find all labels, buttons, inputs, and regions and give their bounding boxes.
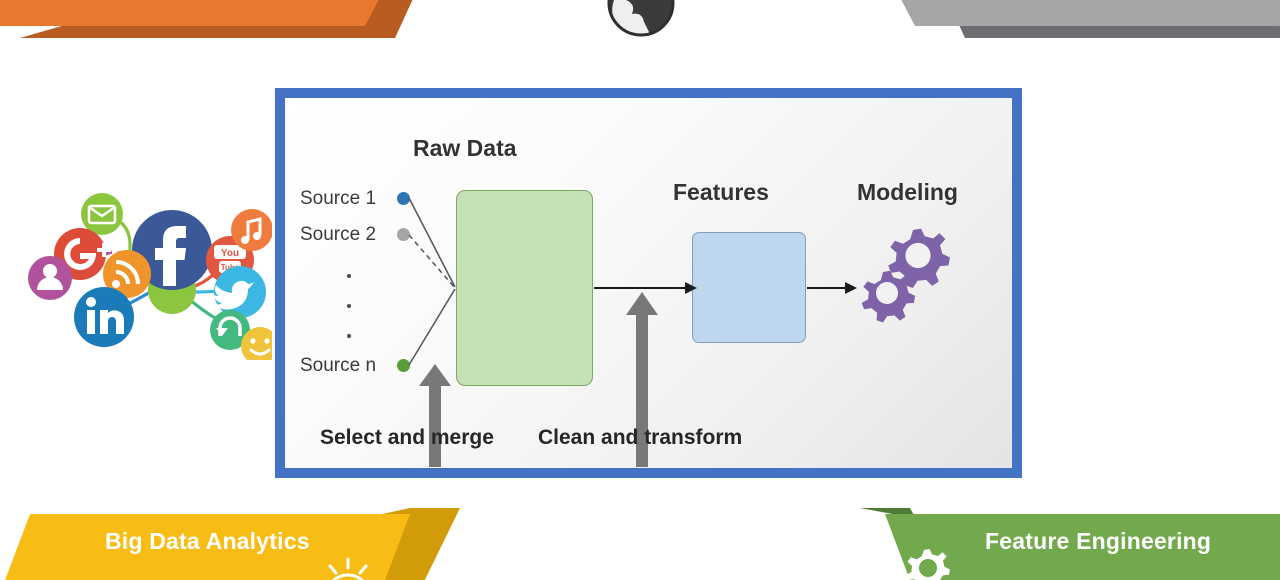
banner-tr-shape [800, 0, 1280, 60]
banner-tl-shape [0, 0, 480, 60]
source-label-n: Source n [300, 355, 376, 377]
vertical-ellipsis-dot [347, 334, 351, 338]
raw-data-title: Raw Data [413, 135, 517, 162]
social-media-graph: You Tube [22, 182, 272, 360]
music-icon [231, 209, 272, 251]
globe-icon [604, 0, 678, 40]
svg-text:You: You [221, 248, 239, 259]
gears-icon [888, 540, 986, 580]
banner-feature-engineering[interactable]: Feature Engineering [800, 500, 1280, 580]
banner-br-label: Feature Engineering [985, 528, 1211, 555]
features-box [692, 232, 806, 343]
banner-sentiment-analysis[interactable]: Sentiment Analysis [0, 0, 480, 60]
pipeline-panel-inner: Raw Data Features Modeling Source 1 Sour… [285, 98, 1012, 468]
sun-icon [318, 555, 378, 580]
source-dot-1 [397, 192, 410, 205]
vertical-ellipsis-dot [347, 274, 351, 278]
caption-select-and-merge: Select and merge [320, 426, 494, 450]
caption-clean-and-transform: Clean and transform [538, 426, 742, 450]
modeling-gears-icon [861, 220, 967, 326]
source-dot-n [397, 359, 410, 372]
pipeline-panel: Raw Data Features Modeling Source 1 Sour… [275, 88, 1022, 478]
raw-data-box [456, 190, 593, 386]
source-dot-2 [397, 228, 410, 241]
source-label-1: Source 1 [300, 188, 376, 210]
social-media-cluster: You Tube [22, 182, 272, 360]
banner-predictive-modeling[interactable]: Predictive Modeling [800, 0, 1280, 60]
vertical-ellipsis-dot [347, 304, 351, 308]
infographic-canvas: Sentiment Analysis [0, 0, 1280, 580]
source-label-2: Source 2 [300, 224, 376, 246]
banner-big-data-analytics[interactable]: Big Data Analytics [0, 500, 480, 580]
banner-bl-label: Big Data Analytics [105, 528, 310, 555]
email-icon [81, 193, 123, 235]
modeling-title: Modeling [857, 179, 958, 206]
features-title: Features [673, 179, 769, 206]
